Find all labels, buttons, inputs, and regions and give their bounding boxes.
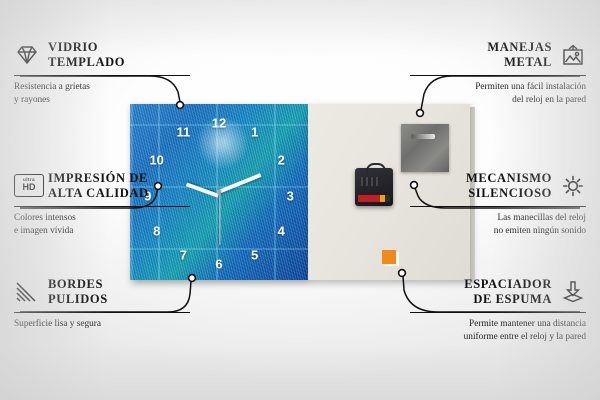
divider: [14, 206, 190, 208]
infographic-canvas: 12 1 2 3 4 5 6 7 8 9 10 11: [0, 0, 600, 400]
feature-title-line2: ALTA CALIDAD: [48, 186, 149, 201]
feature-sub-line1: Superficie lisa y segura: [14, 318, 190, 331]
feature-sub-line2: uniforme entre el reloj y la pared: [410, 331, 586, 344]
feature-title-line2: SILENCIOSO: [466, 186, 552, 201]
picture-hanger-icon: [560, 43, 586, 67]
gear-icon: [560, 174, 586, 198]
feature-sub-line1: Resistencia a grietas: [14, 81, 190, 94]
divider: [14, 75, 190, 77]
divider: [410, 312, 586, 314]
feature-sub-line2: no emiten ningún sonido: [410, 225, 586, 238]
feature-sub-line2: del reloj en la pared: [410, 94, 586, 107]
polished-edge-icon: [14, 280, 40, 304]
feature-title-line2: PULIDOS: [48, 292, 108, 307]
divider: [410, 75, 586, 77]
feature-foam-spacer: ESPACIADOR DE ESPUMA Permite mantener un…: [410, 277, 586, 343]
feature-metal-handles: MANEJAS METAL Permiten una fácil instala…: [410, 40, 586, 106]
feature-sub-line2: e imagen vívida: [14, 225, 190, 238]
connector-dot: [399, 270, 406, 277]
hd-icon-large-label: HD: [23, 183, 36, 192]
spacer-arrow-icon: [560, 280, 586, 304]
feature-sub-line1: Permite mantener una distancia: [410, 318, 586, 331]
feature-title-line1: BORDES: [48, 277, 108, 292]
feature-tempered-glass: VIDRIO TEMPLADO Resistencia a grietas y …: [14, 40, 190, 106]
feature-title-line2: METAL: [487, 55, 552, 70]
ultra-hd-icon: ultra HD: [14, 174, 40, 198]
feature-sub-line2: y rayones: [14, 94, 190, 107]
feature-high-quality-print: ultra HD IMPRESIÓN DE ALTA CALIDAD Color…: [14, 171, 190, 237]
feature-title-line1: ESPACIADOR: [464, 277, 552, 292]
feature-title-line1: IMPRESIÓN DE: [48, 171, 149, 186]
divider: [410, 206, 586, 208]
feature-sub-line1: Colores intensos: [14, 212, 190, 225]
feature-title-line1: MANEJAS: [487, 40, 552, 55]
feature-polished-edges: BORDES PULIDOS Superficie lisa y segura: [14, 277, 190, 331]
divider: [14, 312, 190, 314]
diamond-icon: [14, 43, 40, 67]
feature-title-line1: MECANISMO: [466, 171, 552, 186]
connector-dot: [417, 110, 424, 117]
feature-title-line2: TEMPLADO: [48, 55, 125, 70]
feature-sub-line1: Permiten una fácil instalación: [410, 81, 586, 94]
feature-silent-mechanism: MECANISMO SILENCIOSO Las manecillas del …: [410, 171, 586, 237]
feature-title-line1: VIDRIO: [48, 40, 125, 55]
feature-title-line2: DE ESPUMA: [464, 292, 552, 307]
feature-sub-line1: Las manecillas del reloj: [410, 212, 586, 225]
